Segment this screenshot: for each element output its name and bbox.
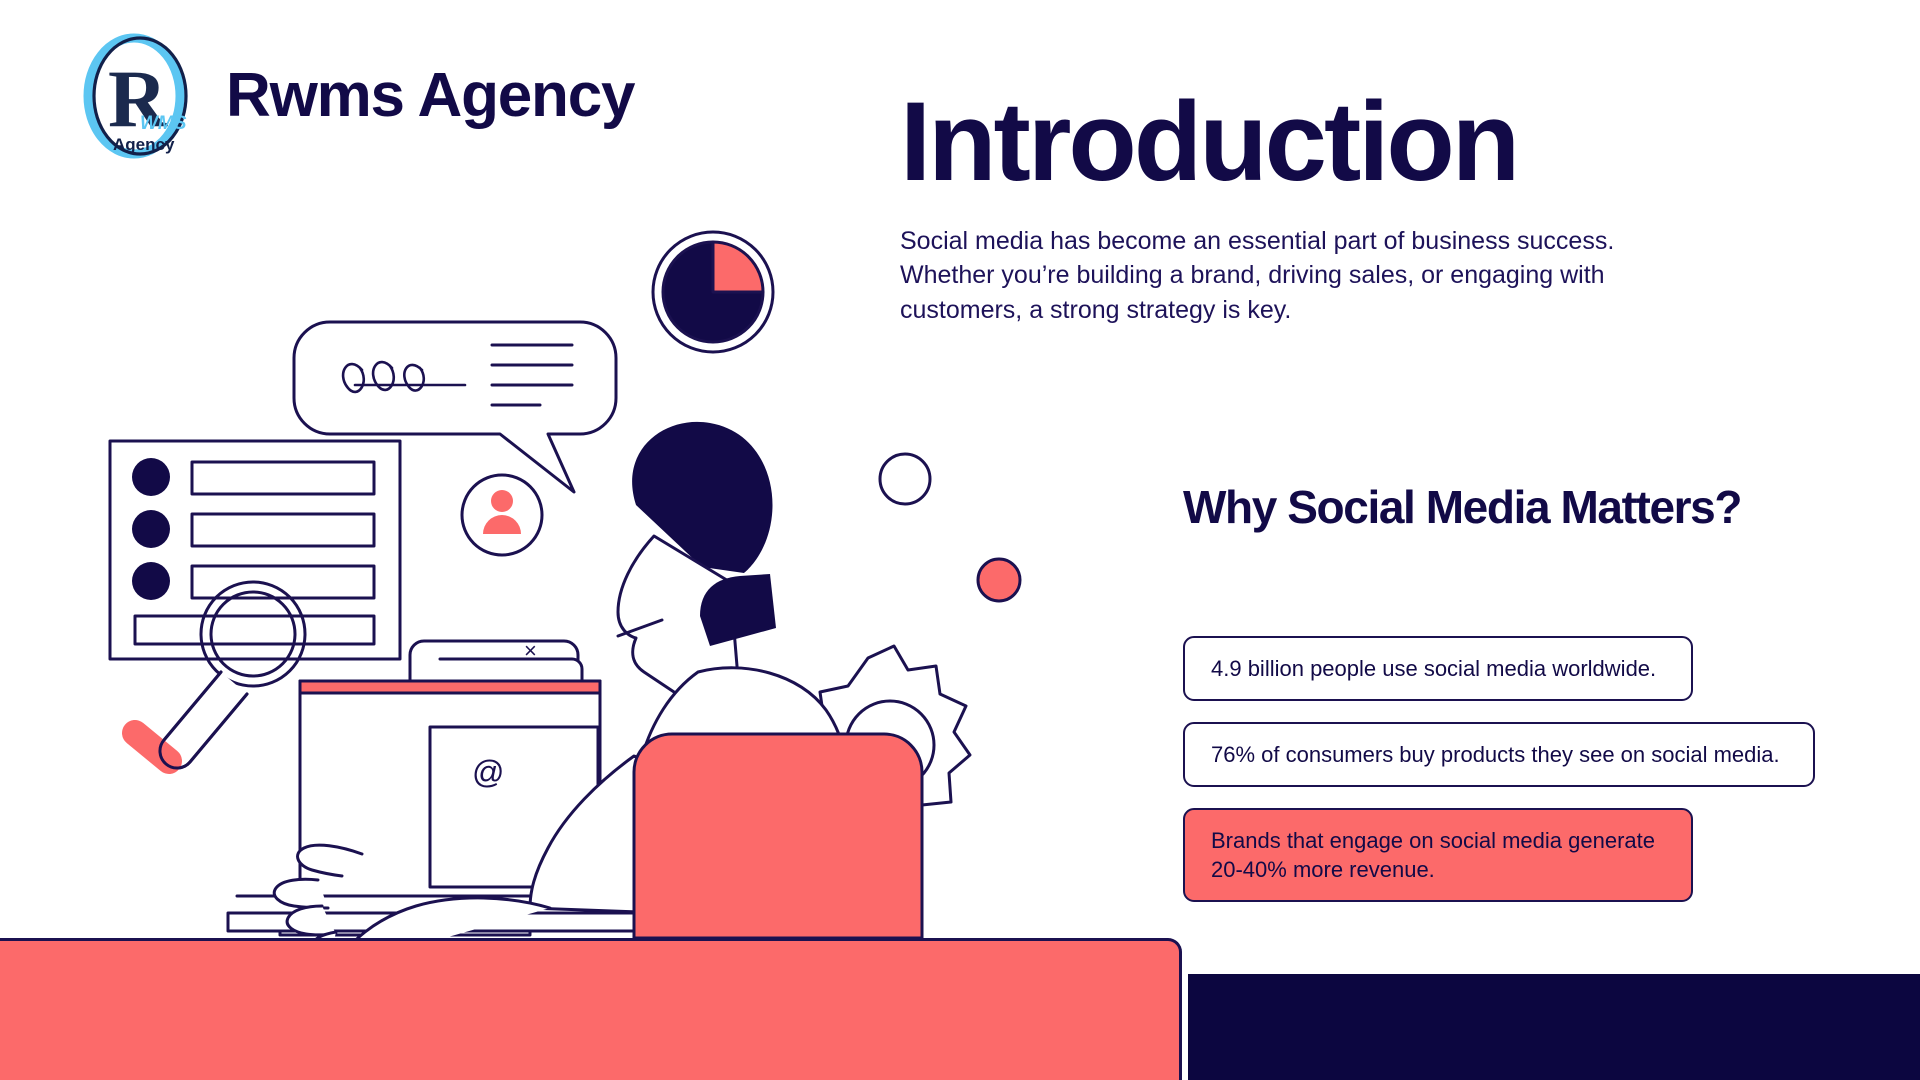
intro-column: Introduction Social media has become an … — [900, 88, 1780, 327]
section-heading: Why Social Media Matters? — [1183, 484, 1743, 532]
bottom-band-coral — [0, 938, 1182, 1080]
fact-item: 4.9 billion people use social media worl… — [1183, 636, 1693, 701]
page-title: Introduction — [900, 88, 1780, 196]
facts-list: 4.9 billion people use social media worl… — [1183, 636, 1823, 923]
bottom-band-navy — [1188, 974, 1920, 1080]
close-icon: × — [524, 638, 537, 663]
intro-paragraph: Social media has become an essential par… — [900, 224, 1690, 328]
chair-illustration — [634, 734, 922, 938]
email-glyph: @ — [472, 754, 504, 790]
decorative-circle-outline — [880, 454, 930, 504]
decorative-circle-coral — [978, 559, 1020, 601]
fact-item: 76% of consumers buy products they see o… — [1183, 722, 1815, 787]
fact-item-highlighted: Brands that engage on social media gener… — [1183, 808, 1693, 902]
list-panel-icon — [110, 441, 400, 659]
avatar-icon — [462, 475, 542, 555]
pie-chart-icon — [653, 232, 773, 352]
